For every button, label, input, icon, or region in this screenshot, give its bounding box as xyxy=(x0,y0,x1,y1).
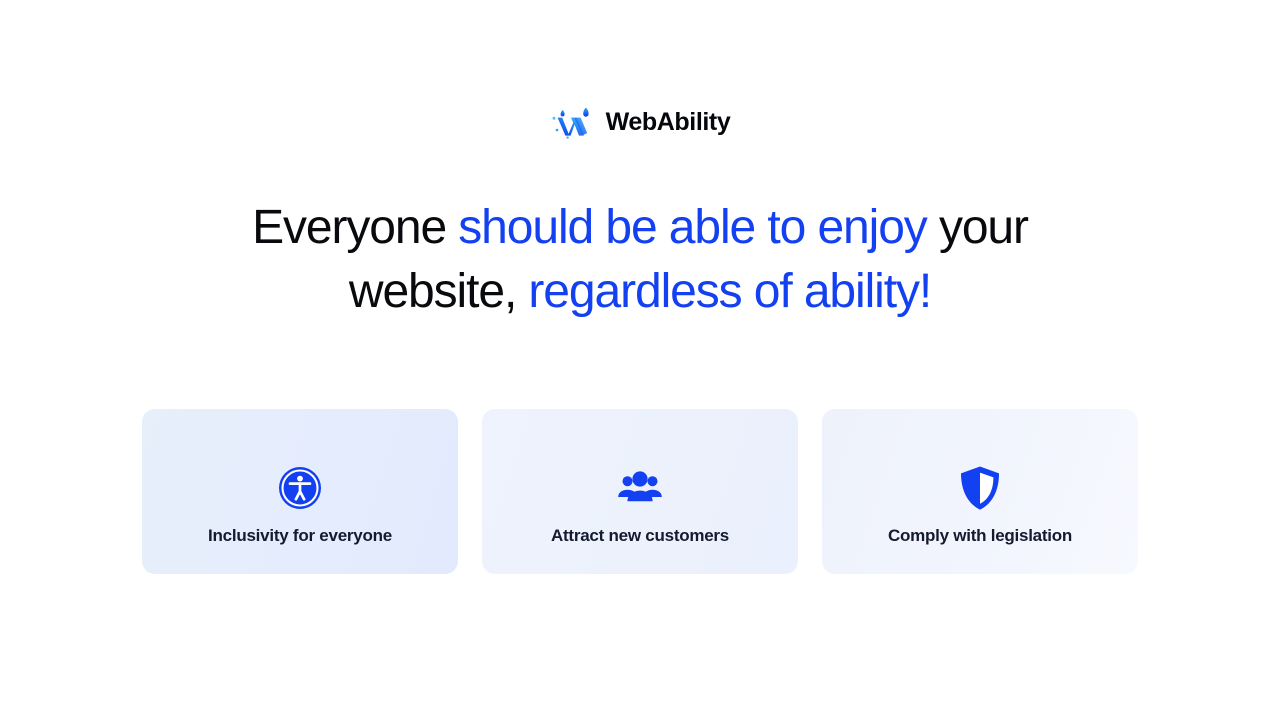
brand-name: WebAbility xyxy=(606,110,731,135)
feature-card-inclusivity[interactable]: Inclusivity for everyone xyxy=(142,409,458,574)
users-group-icon xyxy=(617,466,663,510)
shield-icon xyxy=(958,466,1002,510)
feature-card-label: Comply with legislation xyxy=(888,526,1072,546)
feature-card-legislation[interactable]: Comply with legislation xyxy=(822,409,1138,574)
accessibility-icon xyxy=(277,466,323,510)
headline-segment-1: Everyone xyxy=(252,201,458,254)
page-title: Everyone should be able to enjoy your we… xyxy=(190,196,1090,324)
feature-card-customers[interactable]: Attract new customers xyxy=(482,409,798,574)
page-root: WebAbility Everyone should be able to en… xyxy=(0,0,1280,720)
feature-card-label: Attract new customers xyxy=(551,526,729,546)
feature-card-list: Inclusivity for everyone Attract new cus… xyxy=(142,409,1138,574)
feature-card-label: Inclusivity for everyone xyxy=(208,526,392,546)
headline-segment-4: regardless of ability! xyxy=(528,265,931,318)
headline-segment-2: should be able to enjoy xyxy=(458,201,926,254)
brand-logo[interactable]: WebAbility xyxy=(550,100,731,144)
webability-w-logomark-icon xyxy=(550,102,596,142)
